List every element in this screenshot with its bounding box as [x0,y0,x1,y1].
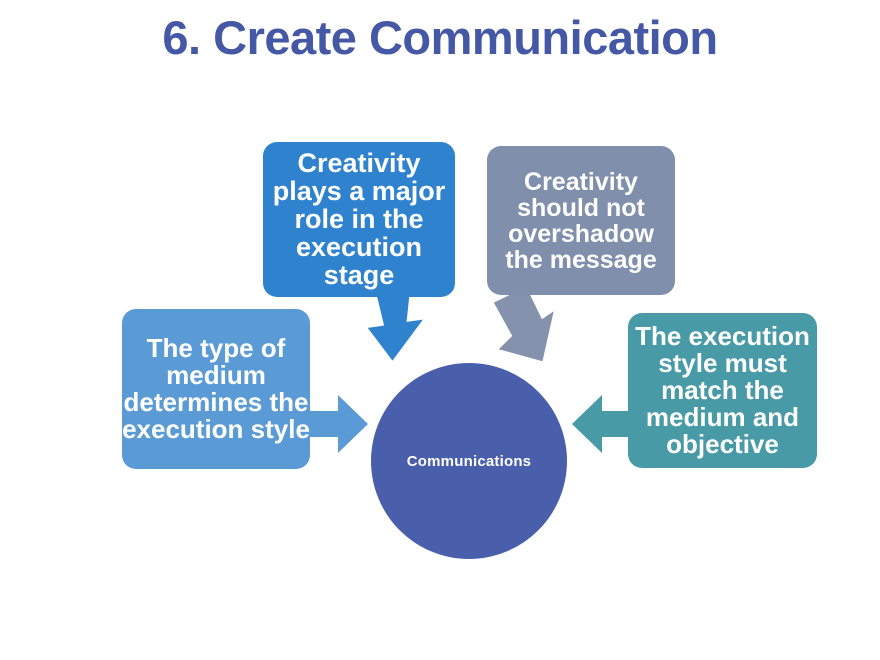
arrow-from-node-1-icon [362,287,434,372]
center-node-label: Communications [407,453,531,470]
page-title: 6. Create Communication [120,14,760,62]
node-label: The type of medium determines the execut… [122,335,310,443]
diagram-node-medium-determines-style[interactable]: The type of medium determines the execut… [122,309,310,469]
node-label: The execution style must match the mediu… [628,323,817,458]
node-label: Creativity should not overshadow the mes… [487,169,675,273]
diagram-node-creativity-overshadow[interactable]: Creativity should not overshadow the mes… [487,146,675,295]
slide-canvas: 6. Create Communication Creativity plays… [0,0,880,660]
diagram-node-creativity-major-role[interactable]: Creativity plays a major role in the exe… [263,142,455,297]
arrow-from-node-3-icon [300,393,370,460]
diagram-center-node[interactable]: Communications [371,363,567,559]
arrow-from-node-2-icon [482,288,560,375]
node-label: Creativity plays a major role in the exe… [263,149,455,289]
diagram-node-style-match-medium[interactable]: The execution style must match the mediu… [628,313,817,468]
